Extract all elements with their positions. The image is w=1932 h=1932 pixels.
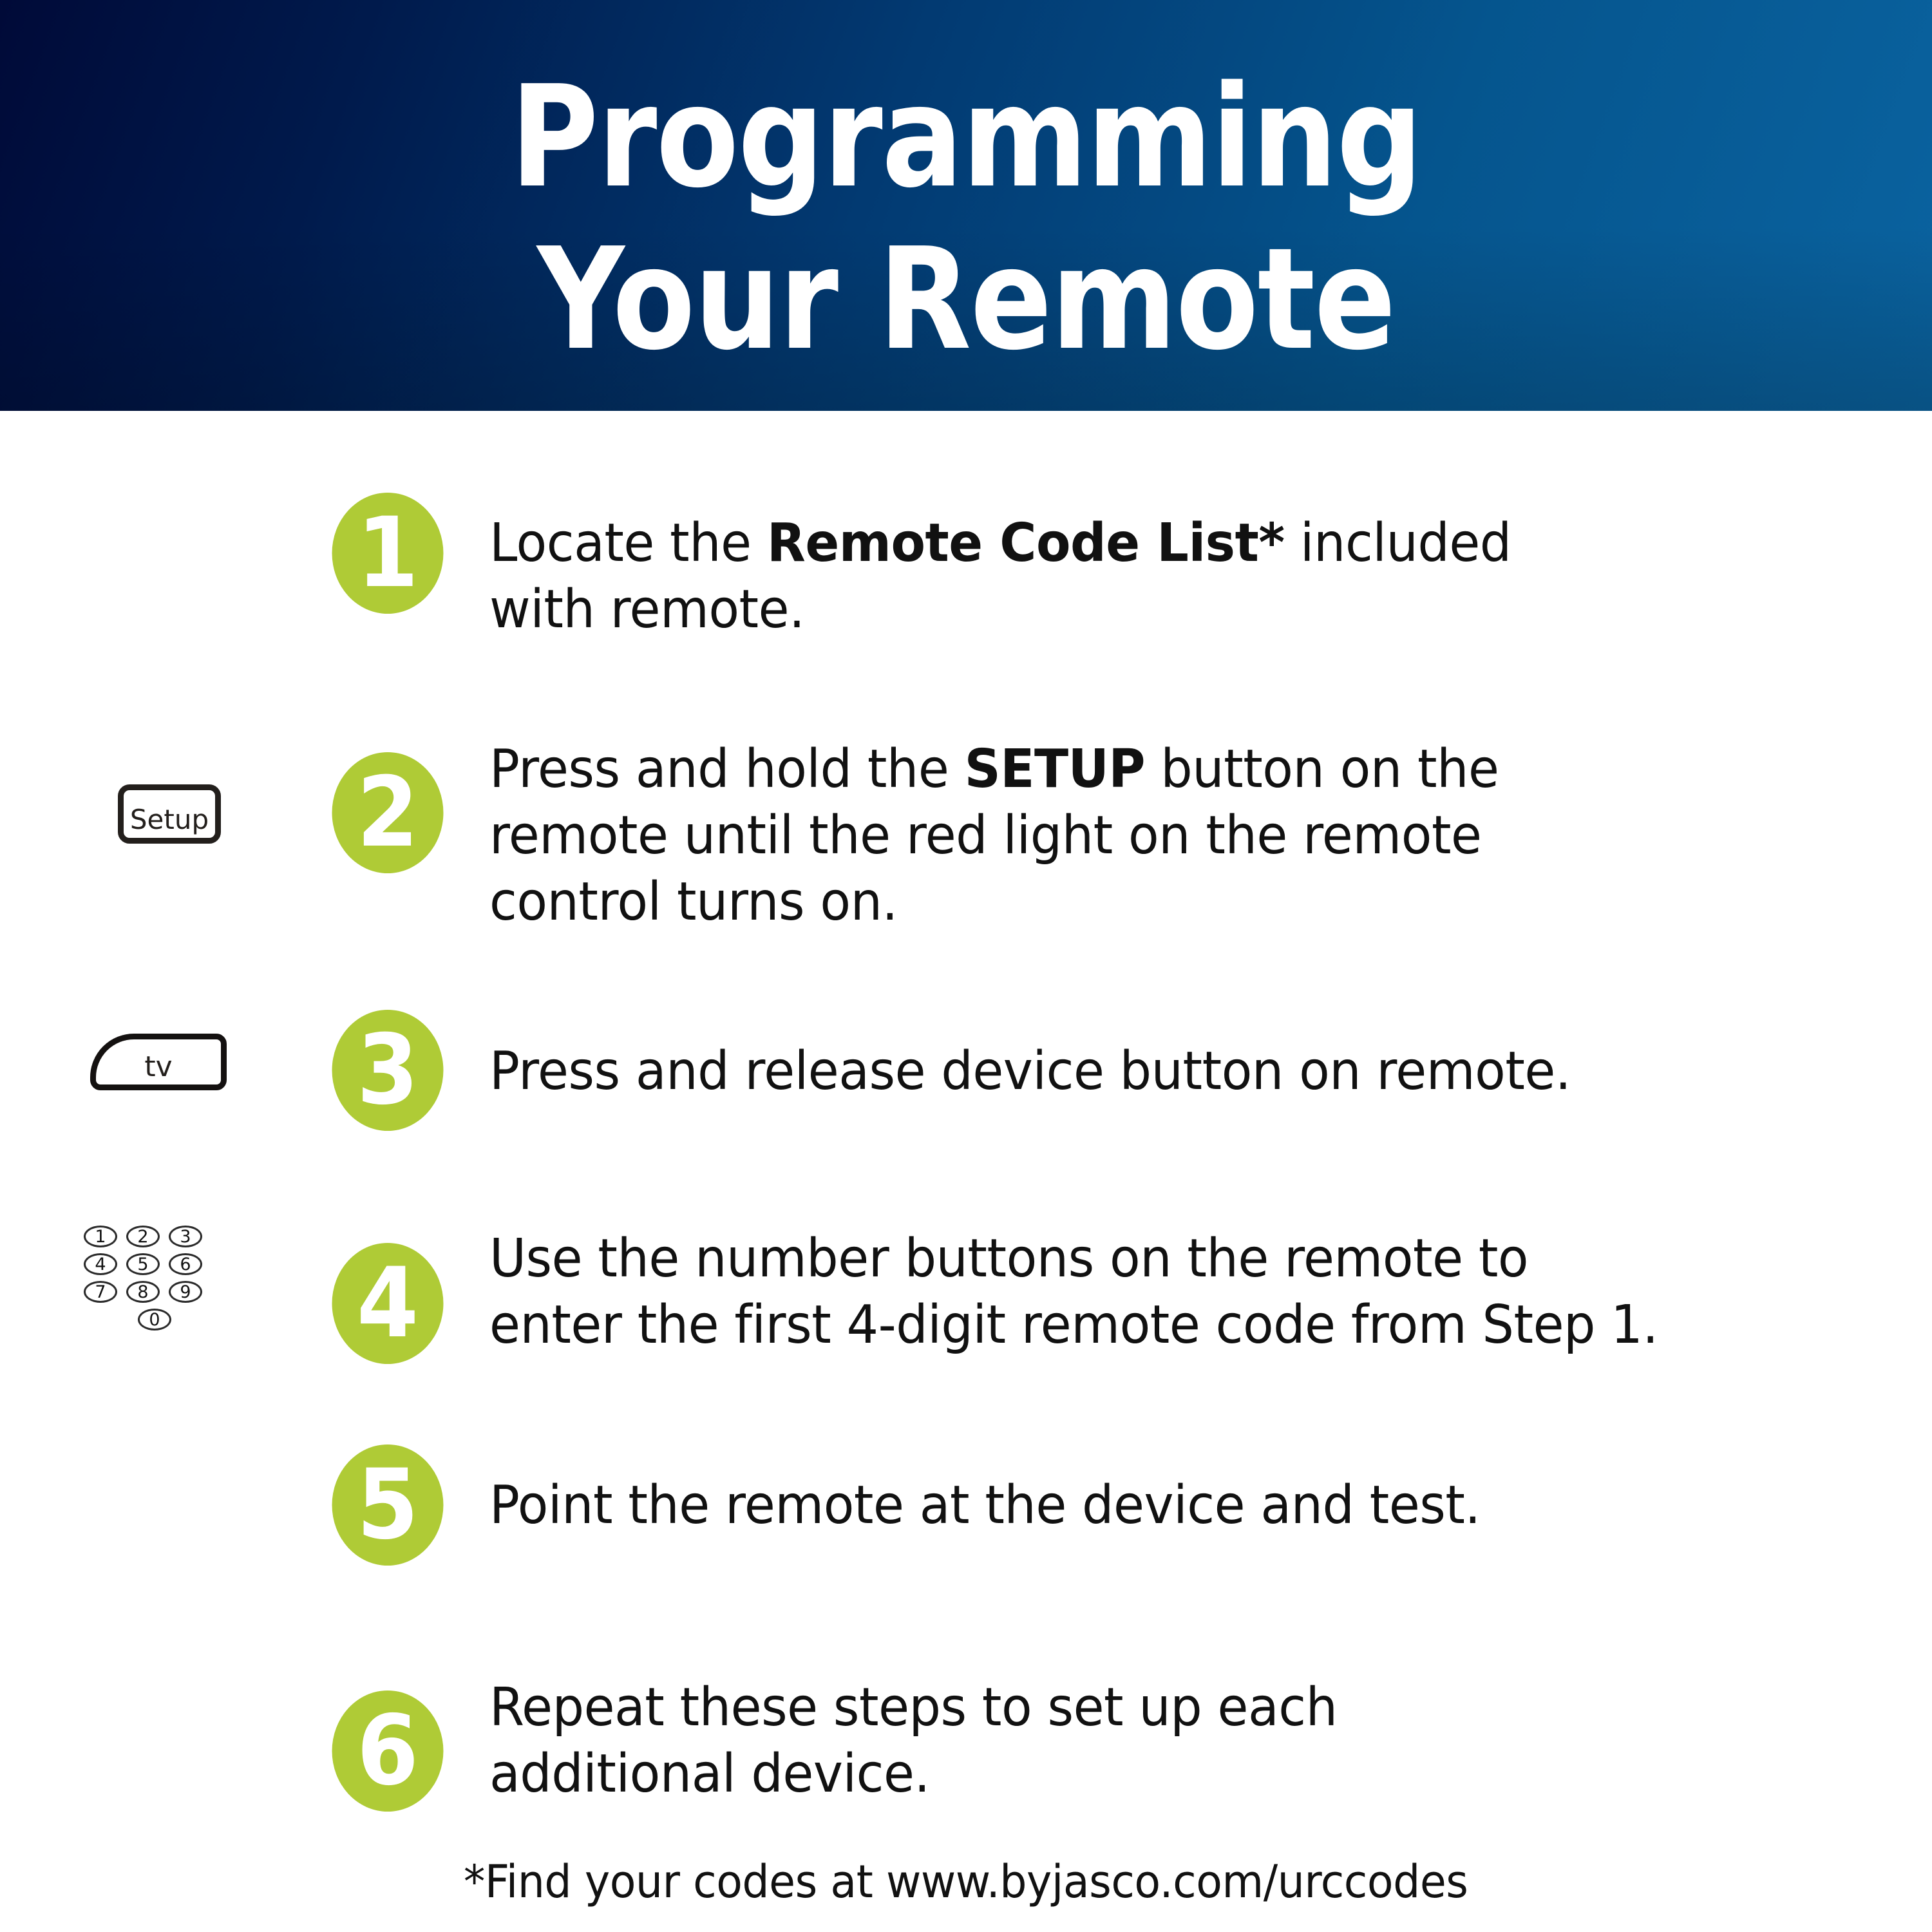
keypad-row-3: 7 8 9 [84, 1281, 225, 1303]
keypad-key-8: 8 [126, 1281, 160, 1303]
step-text-5: Point the remote at the device and test. [489, 1472, 1481, 1539]
keypad-key-6: 6 [169, 1253, 202, 1275]
page-title-line-1: Programming [135, 57, 1797, 219]
keypad-key-5: 5 [126, 1253, 160, 1275]
step-text-1: Locate the Remote Code List* included wi… [489, 510, 1511, 643]
setup-button-icon: Setup [118, 784, 221, 844]
step-text-3-part-a: Press and release device button on remot… [489, 1041, 1571, 1102]
step-text-1-bold: Remote Code List* [767, 513, 1285, 574]
keypad-key-4: 4 [84, 1253, 117, 1275]
keypad-key-9: 9 [169, 1281, 202, 1303]
step-text-4: Use the number buttons on the remote to … [489, 1226, 1658, 1358]
step-badge-3: 3 [332, 1010, 444, 1131]
page-title: Programming Your Remote [0, 57, 1932, 381]
step-text-6: Repeat these steps to set up each additi… [489, 1674, 1338, 1807]
step-badge-6: 6 [332, 1690, 444, 1812]
keypad-key-3: 3 [169, 1226, 202, 1247]
header-banner: Programming Your Remote [0, 0, 1932, 411]
step-text-2-part-a: Press and hold the [489, 739, 965, 800]
step-text-2-bold: SETUP [965, 739, 1145, 800]
footer-note: *Find your codes at www.byjasco.com/urcc… [0, 1855, 1932, 1909]
step-badge-1: 1 [332, 493, 444, 614]
step-text-4-part-a: Use the number buttons on the remote to … [489, 1228, 1658, 1356]
steps-list: 1 Locate the Remote Code List* included … [0, 411, 1932, 1932]
step-text-2: Press and hold the SETUP button on the r… [489, 736, 1499, 935]
keypad-key-0: 0 [138, 1309, 171, 1331]
step-badge-5: 5 [332, 1444, 444, 1566]
step-text-6-part-a: Repeat these steps to set up each additi… [489, 1677, 1338, 1804]
step-badge-2: 2 [332, 752, 444, 873]
page-title-line-2: Your Remote [135, 219, 1797, 381]
step-text-5-part-a: Point the remote at the device and test. [489, 1475, 1481, 1536]
step-text-1-part-a: Locate the [489, 513, 767, 574]
keypad-row-4: 0 [84, 1309, 225, 1331]
number-keypad-icon: 1 2 3 4 5 6 7 8 9 0 [84, 1226, 225, 1336]
keypad-row-1: 1 2 3 [84, 1226, 225, 1247]
keypad-key-2: 2 [126, 1226, 160, 1247]
tv-button-icon: tv [90, 1034, 227, 1090]
footer-note-text: *Find your codes at www.byjasco.com/urcc… [464, 1855, 1468, 1909]
keypad-row-2: 4 5 6 [84, 1253, 225, 1275]
step-text-3: Press and release device button on remot… [489, 1038, 1571, 1104]
step-badge-4: 4 [332, 1243, 444, 1364]
keypad-key-7: 7 [84, 1281, 117, 1303]
keypad-key-1: 1 [84, 1226, 117, 1247]
